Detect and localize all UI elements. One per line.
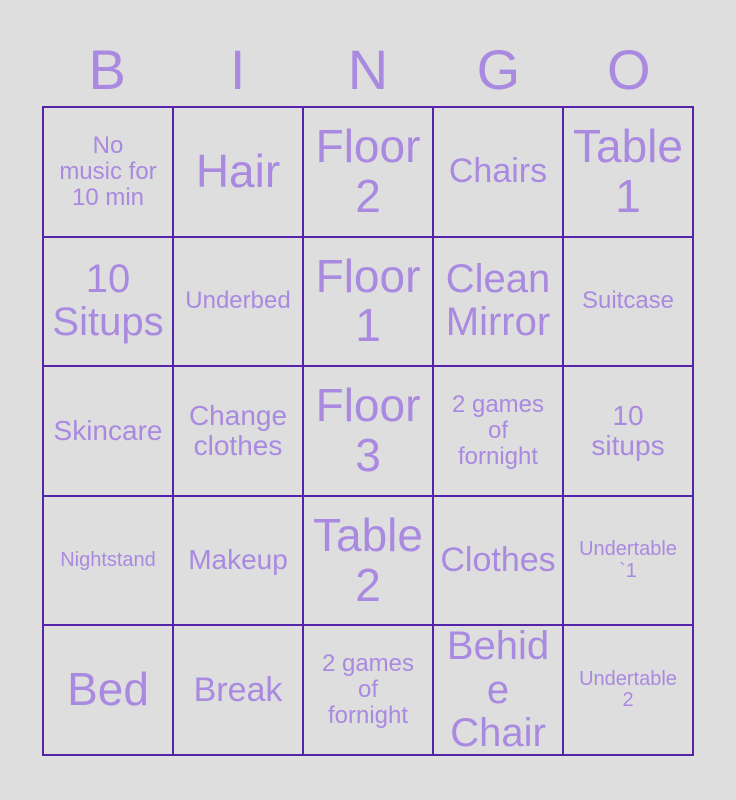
bingo-cell-label: Clothes	[437, 542, 559, 579]
bingo-cell-label: Skincare	[47, 416, 169, 446]
bingo-cell-label: Floor 1	[307, 252, 429, 351]
bingo-cell-n2[interactable]: Floor 1	[304, 238, 434, 368]
bingo-cell-label: 10 Situps	[47, 258, 169, 344]
bingo-cell-b3[interactable]: Skincare	[44, 367, 174, 497]
bingo-cell-i2[interactable]: Underbed	[174, 238, 304, 368]
bingo-cell-label: Table 1	[567, 122, 689, 221]
bingo-cell-label: Break	[177, 672, 299, 709]
bingo-cell-o3[interactable]: 10 situps	[564, 367, 694, 497]
bingo-cell-label: Nightstand	[47, 550, 169, 572]
bingo-grid: No music for 10 minHairFloor 2ChairsTabl…	[42, 106, 694, 756]
bingo-cell-label: No music for 10 min	[47, 133, 169, 211]
bingo-cell-label: Chairs	[437, 153, 559, 190]
bingo-header-letter-g: G	[433, 34, 563, 106]
bingo-cell-o1[interactable]: Table 1	[564, 108, 694, 238]
bingo-cell-g3[interactable]: 2 games of fornight	[434, 367, 564, 497]
bingo-cell-b1[interactable]: No music for 10 min	[44, 108, 174, 238]
bingo-cell-label: Makeup	[177, 545, 299, 575]
bingo-cell-i3[interactable]: Change clothes	[174, 367, 304, 497]
bingo-cell-g4[interactable]: Clothes	[434, 497, 564, 627]
bingo-cell-label: Undertable `1	[567, 539, 689, 582]
bingo-cell-o4[interactable]: Undertable `1	[564, 497, 694, 627]
bingo-cell-g5[interactable]: Behide Chair	[434, 626, 564, 756]
bingo-cell-i5[interactable]: Break	[174, 626, 304, 756]
bingo-header-letter-b: B	[42, 34, 172, 106]
bingo-header-letter-n: N	[303, 34, 433, 106]
bingo-cell-n1[interactable]: Floor 2	[304, 108, 434, 238]
bingo-cell-n4[interactable]: Table 2	[304, 497, 434, 627]
bingo-cell-n5[interactable]: 2 games of fornight	[304, 626, 434, 756]
bingo-cell-label: Floor 3	[307, 381, 429, 480]
bingo-cell-b4[interactable]: Nightstand	[44, 497, 174, 627]
bingo-cell-label: 2 games of fornight	[307, 651, 429, 729]
bingo-cell-label: Undertable 2	[567, 669, 689, 712]
bingo-cell-label: Floor 2	[307, 122, 429, 221]
bingo-cell-label: Hair	[177, 147, 299, 197]
bingo-cell-o5[interactable]: Undertable 2	[564, 626, 694, 756]
bingo-cell-n3[interactable]: Floor 3	[304, 367, 434, 497]
bingo-cell-i4[interactable]: Makeup	[174, 497, 304, 627]
bingo-cell-label: Suitcase	[567, 288, 689, 314]
bingo-cell-label: Bed	[47, 665, 169, 715]
bingo-header-letter-i: I	[172, 34, 302, 106]
bingo-cell-g2[interactable]: Clean Mirror	[434, 238, 564, 368]
bingo-cell-label: Underbed	[177, 288, 299, 314]
bingo-cell-label: 2 games of fornight	[437, 392, 559, 470]
bingo-header-row: BINGO	[42, 34, 694, 106]
bingo-header-letter-o: O	[564, 34, 694, 106]
bingo-cell-label: Change clothes	[177, 401, 299, 461]
bingo-cell-label: Clean Mirror	[437, 258, 559, 344]
bingo-cell-b2[interactable]: 10 Situps	[44, 238, 174, 368]
bingo-card: BINGO No music for 10 minHairFloor 2Chai…	[0, 0, 736, 800]
bingo-cell-o2[interactable]: Suitcase	[564, 238, 694, 368]
bingo-cell-g1[interactable]: Chairs	[434, 108, 564, 238]
bingo-cell-label: 10 situps	[567, 401, 689, 461]
bingo-cell-label: Table 2	[307, 511, 429, 610]
bingo-cell-label: Behide Chair	[437, 626, 559, 755]
bingo-cell-i1[interactable]: Hair	[174, 108, 304, 238]
bingo-cell-b5[interactable]: Bed	[44, 626, 174, 756]
